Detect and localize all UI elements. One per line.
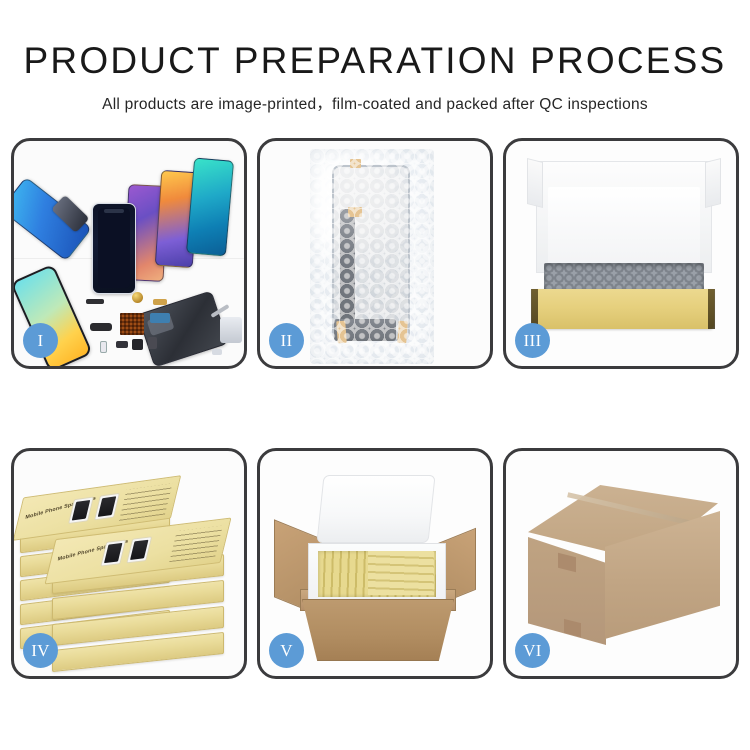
bubble-bag: [310, 149, 434, 364]
box-spec-lines: [119, 483, 172, 521]
part-connector-icon: [86, 299, 104, 304]
box-window: [68, 496, 94, 524]
process-step-2: II: [257, 138, 493, 369]
process-step-1: I: [11, 138, 247, 369]
step-badge-1: I: [23, 323, 58, 358]
product-preparation-infographic: PRODUCT PREPARATION PROCESS All products…: [0, 0, 750, 750]
carton-body: [302, 599, 454, 661]
step-badge-6: VI: [515, 633, 550, 668]
part-sim-tray-icon: [100, 341, 107, 353]
step-badge-5: V: [269, 633, 304, 668]
yellow-inner-box: [532, 289, 714, 329]
part-coil-icon: [132, 292, 143, 303]
header: PRODUCT PREPARATION PROCESS All products…: [0, 0, 750, 114]
part-speaker-icon: [148, 337, 157, 349]
phone-glass-front-icon: [92, 203, 136, 294]
part-cable-icon: [90, 323, 112, 331]
box-window: [126, 536, 152, 563]
process-step-4: Mobile Phone Spare Parts Mobile Phone Sp…: [11, 448, 247, 679]
part-ribbon-icon: [150, 313, 170, 323]
part-camera-icon: [132, 339, 143, 350]
part-flex-gold-icon: [153, 299, 167, 305]
phone-teal-icon: [186, 157, 234, 256]
process-step-5: V: [257, 448, 493, 679]
foam-backing: [548, 187, 700, 269]
part-screws-icon: [212, 349, 222, 355]
box-window: [94, 493, 120, 521]
part-ic-icon: [116, 341, 128, 348]
carton-tab: [564, 619, 581, 637]
process-step-3: III: [503, 138, 739, 369]
foam-box-lid: [316, 475, 435, 543]
step-badge-2: II: [269, 323, 304, 358]
tool-hand-icon: [220, 317, 242, 343]
packed-boxes-row: [368, 551, 434, 595]
process-step-6: VI: [503, 448, 739, 679]
part-chip-array-icon: [120, 313, 144, 335]
step-badge-3: III: [515, 323, 550, 358]
page-subtitle: All products are image-printed，film-coat…: [0, 92, 750, 114]
page-title: PRODUCT PREPARATION PROCESS: [0, 41, 750, 81]
phone-film-icon: [14, 177, 92, 262]
bubble-texture: [310, 149, 434, 364]
process-step-grid: I II: [11, 138, 739, 679]
step-badge-4: IV: [23, 633, 58, 668]
box-spec-lines: [169, 526, 222, 563]
